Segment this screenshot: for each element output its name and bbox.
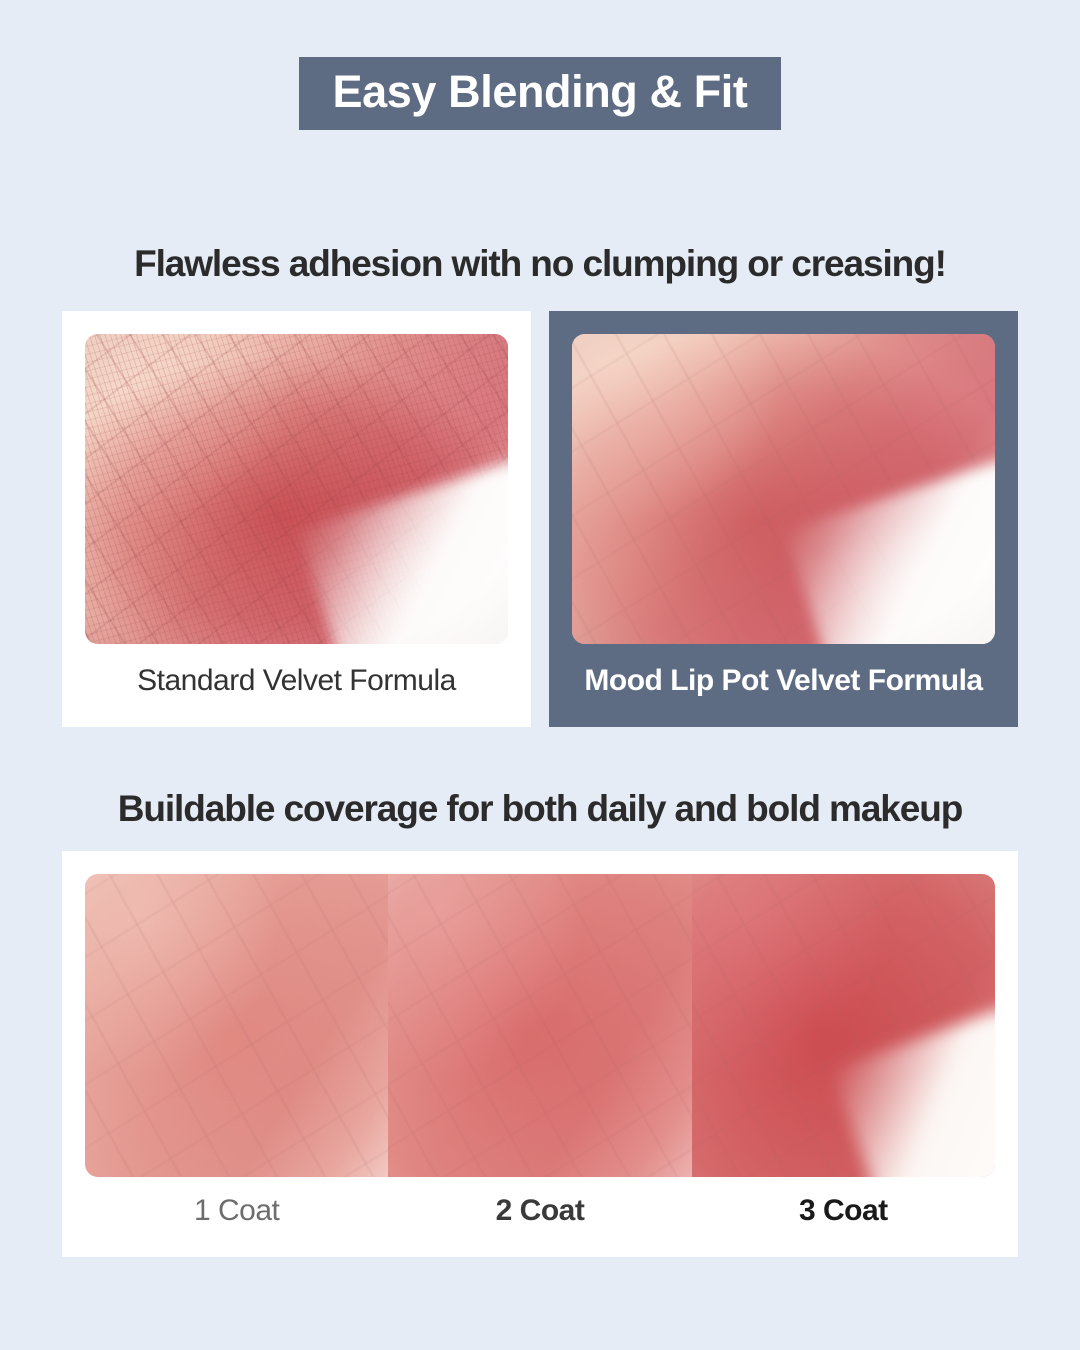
coat-label-1: 1 Coat [85, 1196, 388, 1226]
swatch-standard-velvet [85, 334, 508, 644]
swatch-coat-3 [692, 874, 995, 1177]
pigment-layer-coat-1 [85, 874, 388, 1177]
coat-label-3: 3 Coat [692, 1196, 995, 1226]
buildable-swatch-strip [85, 874, 995, 1177]
section-heading-buildable: Buildable coverage for both daily and bo… [0, 788, 1080, 830]
swatch-vignette-mood [572, 334, 995, 644]
comparison-row: Standard Velvet Formula Mood Lip Pot Vel… [62, 311, 1018, 727]
comparison-card-mood-lip-pot: Mood Lip Pot Velvet Formula [549, 311, 1018, 727]
section-heading-adhesion: Flawless adhesion with no clumping or cr… [0, 243, 1080, 285]
swatch-vignette-standard [85, 334, 508, 644]
coat-label-2: 2 Coat [388, 1196, 691, 1226]
title-banner-wrap: Easy Blending & Fit [0, 57, 1080, 130]
infographic-page: Easy Blending & Fit Flawless adhesion wi… [0, 0, 1080, 1350]
page-title: Easy Blending & Fit [299, 57, 782, 130]
comparison-label-mood-lip-pot: Mood Lip Pot Velvet Formula [584, 666, 982, 696]
comparison-label-standard: Standard Velvet Formula [137, 666, 456, 696]
swatch-coat-2 [388, 874, 691, 1177]
comparison-card-standard: Standard Velvet Formula [62, 311, 531, 727]
swatch-mood-lip-pot [572, 334, 995, 644]
swatch-coat-1 [85, 874, 388, 1177]
coat-label-row: 1 Coat 2 Coat 3 Coat [85, 1196, 995, 1226]
buildable-card: 1 Coat 2 Coat 3 Coat [62, 851, 1018, 1257]
pigment-layer-coat-2 [388, 874, 691, 1177]
